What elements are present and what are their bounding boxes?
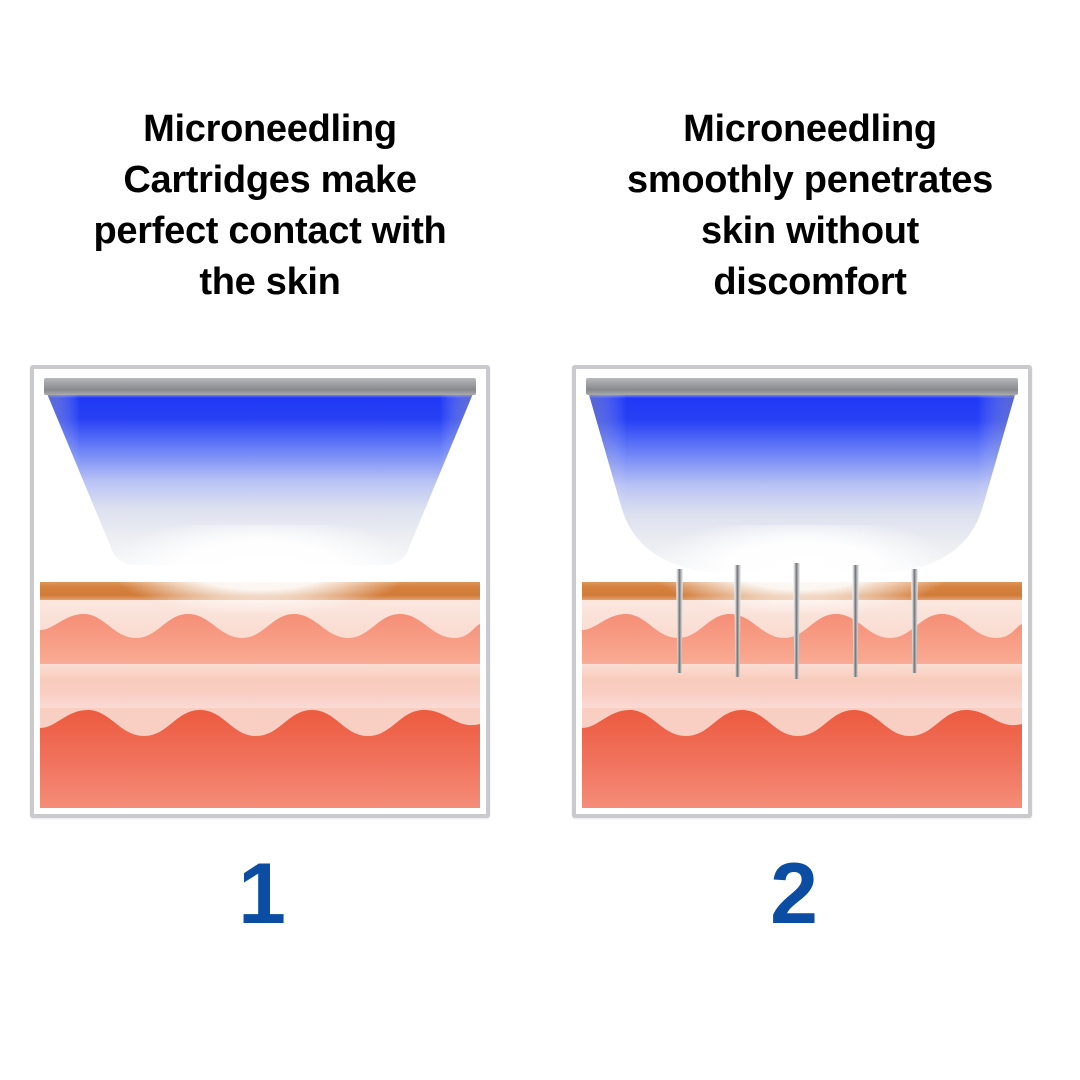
step-2-caption: Microneedling smoothly penetrates skin w… [540,104,1080,308]
cartridge-top-bar-icon [44,378,476,395]
microneedling-cartridge-1 [40,375,480,580]
step-1-number: 1 [0,848,532,940]
step-2-illustration-frame [572,365,1032,818]
comparison-board: Microneedling Cartridges make perfect co… [0,0,1080,1080]
step-panel-1: Microneedling Cartridges make perfect co… [0,0,540,1080]
cartridge-top-bar-icon [586,378,1018,395]
skin-cross-section-scene-1 [40,375,480,808]
skin-cross-section-scene-2 [582,375,1022,808]
step-panel-2: Microneedling smoothly penetrates skin w… [540,0,1080,1080]
skin-layers-1 [40,578,480,808]
cartridge-body [586,389,1018,575]
step-2-number: 2 [524,848,1064,940]
step-1-illustration-frame [30,365,490,818]
microneedling-cartridge-2 [582,375,1022,580]
cartridge-body [44,389,476,575]
skin-layers-2 [582,578,1022,808]
step-1-caption: Microneedling Cartridges make perfect co… [0,104,540,308]
